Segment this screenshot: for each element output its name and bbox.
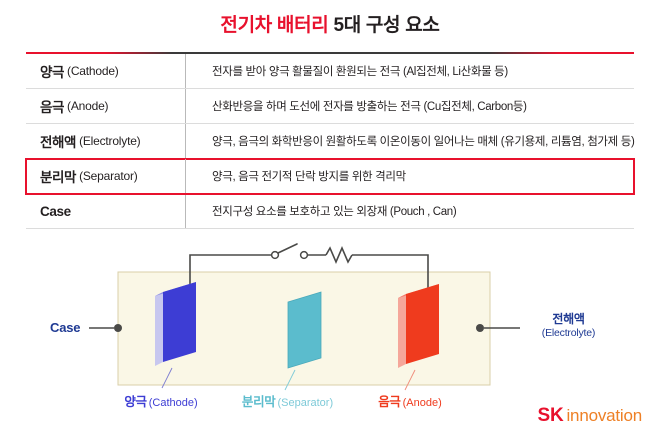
row-label-cathode: 양극(Cathode)	[26, 54, 186, 88]
page-title-rest: 5대 구성 요소	[333, 15, 439, 36]
row-description: 전지구성 요소를 보호하고 있는 외장재 (Pouch , Can)	[186, 203, 634, 219]
logo-innovation-text: innovation	[566, 406, 642, 425]
cathode-plate	[155, 282, 196, 366]
sk-innovation-logo: SKinnovation	[537, 405, 642, 427]
slide-root: { "title": { "highlight": "전기차 배터리", "re…	[0, 0, 660, 437]
row-label-electrolyte: 전해액(Electrolyte)	[26, 124, 186, 158]
anode-label-en: (Anode)	[403, 397, 442, 409]
separator-label-ko: 분리막	[242, 395, 276, 409]
row-label-separator: 분리막(Separator)	[26, 159, 186, 193]
table-row-separator-highlighted: 분리막(Separator) 양극, 음극 전기적 단락 방지를 위한 격리막	[26, 159, 634, 194]
components-table: 양극(Cathode) 전자를 받아 양극 활물질이 환원되는 전극 (Al집전…	[26, 52, 634, 229]
cathode-label: 양극(Cathode)	[96, 391, 226, 411]
cathode-label-en: (Cathode)	[149, 397, 198, 409]
logo-sk-text: SK	[537, 405, 563, 426]
case-connector-dot	[114, 324, 122, 332]
row-description: 산화반응을 하며 도선에 전자를 방출하는 전극 (Cu집전체, Carbon등…	[186, 98, 634, 114]
electrolyte-connector-dot	[476, 324, 484, 332]
row-label-case: Case	[26, 194, 186, 228]
row-label-ko: 전해액	[40, 131, 76, 151]
electrolyte-label-ko: 전해액	[521, 312, 616, 327]
separator-label-en: (Separator)	[277, 397, 333, 409]
row-label-ko: 양극	[40, 61, 64, 81]
anode-label-ko: 음극	[378, 395, 400, 409]
switch-terminal-left-icon	[272, 252, 279, 259]
separator-plate	[288, 292, 321, 368]
table-row: 전해액(Electrolyte) 양극, 음극의 화학반응이 원활하도록 이온이…	[26, 124, 634, 159]
page-title: 전기차 배터리 5대 구성 요소	[0, 10, 660, 37]
separator-label: 분리막(Separator)	[220, 391, 355, 411]
anode-label: 음극(Anode)	[345, 391, 475, 411]
table-row: 음극(Anode) 산화반응을 하며 도선에 전자를 방출하는 전극 (Cu집전…	[26, 89, 634, 124]
row-label-ko: 음극	[40, 96, 64, 116]
row-label-ko: Case	[40, 204, 71, 219]
row-label-anode: 음극(Anode)	[26, 89, 186, 123]
row-description: 양극, 음극의 화학반응이 원활하도록 이온이동이 일어나는 매체 (유기용제,…	[186, 133, 634, 149]
row-label-en: (Cathode)	[67, 64, 119, 78]
table-row: Case 전지구성 요소를 보호하고 있는 외장재 (Pouch , Can)	[26, 194, 634, 229]
row-label-ko: 분리막	[40, 166, 76, 186]
row-label-en: (Separator)	[79, 169, 138, 183]
page-title-highlight: 전기차 배터리	[220, 15, 328, 36]
row-label-en: (Electrolyte)	[79, 134, 140, 148]
table-row: 양극(Cathode) 전자를 받아 양극 활물질이 환원되는 전극 (Al집전…	[26, 54, 634, 89]
anode-plate	[398, 284, 439, 368]
electrolyte-label: 전해액 (Electrolyte)	[521, 312, 616, 340]
case-label: Case	[50, 320, 80, 335]
switch-terminal-right-icon	[301, 252, 308, 259]
cathode-label-ko: 양극	[124, 395, 146, 409]
row-description: 양극, 음극 전기적 단락 방지를 위한 격리막	[186, 168, 634, 184]
row-label-en: (Anode)	[67, 99, 108, 113]
electrolyte-label-en: (Electrolyte)	[521, 327, 616, 340]
row-description: 전자를 받아 양극 활물질이 환원되는 전극 (Al집전체, Li산화물 등)	[186, 63, 634, 79]
